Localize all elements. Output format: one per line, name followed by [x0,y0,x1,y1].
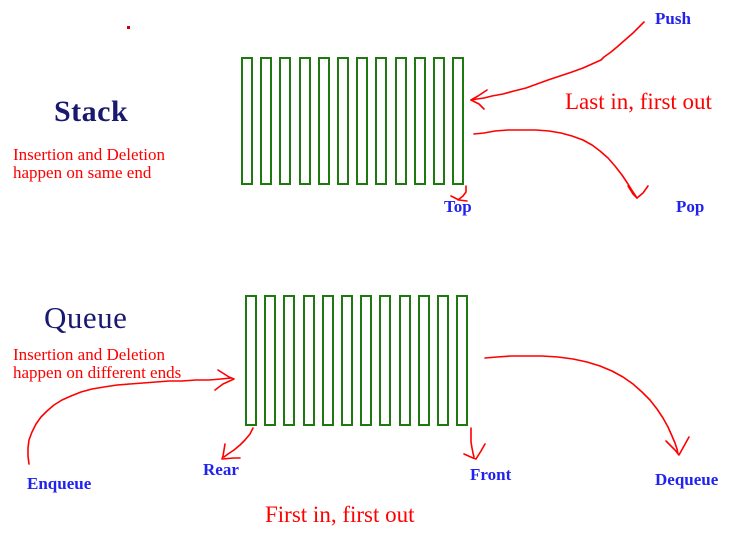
enqueue-arrow-line [28,378,231,464]
bar-element [245,295,257,426]
diagram-canvas: Stack Insertion and Deletion happen on s… [0,0,755,534]
bar-element [395,57,407,185]
bar-element [418,295,430,426]
queue-note-line-2: happen on different ends [13,363,181,382]
bar-element [399,295,411,426]
bar-element [437,295,449,426]
stack-phrase: Last in, first out [565,89,712,115]
bar-element [337,57,349,185]
push-label: Push [655,9,691,28]
speck-artifact [127,26,130,29]
dequeue-arrowhead [666,437,689,455]
bar-element [414,57,426,185]
bar-element [279,57,291,185]
bar-element [456,295,468,426]
top-label: Top [444,197,472,216]
bar-element [318,57,330,185]
bar-element [360,295,372,426]
queue-phrase: First in, first out [265,502,415,528]
rear-pointer-line [224,428,253,457]
front-pointer-line [471,428,474,457]
enqueue-label: Enqueue [27,474,91,493]
bar-element [299,57,311,185]
stack-heading: Stack [54,95,128,129]
pop-arrow-line [474,130,637,198]
dequeue-arrow-line [485,356,678,454]
bar-element [341,295,353,426]
bar-element [379,295,391,426]
front-label: Front [470,465,511,484]
rear-label: Rear [203,460,239,479]
bar-element [356,57,368,185]
bar-element [264,295,276,426]
pop-label: Pop [676,197,704,216]
bar-element [322,295,334,426]
queue-note-line-1: Insertion and Deletion [13,345,165,364]
stack-note-line-1: Insertion and Deletion [13,145,165,164]
bar-element [283,295,295,426]
stack-note-line-2: happen on same end [13,163,151,182]
queue-heading: Queue [44,301,127,336]
bar-element [452,57,464,185]
bar-element [260,57,272,185]
dequeue-label: Dequeue [655,470,718,489]
bar-element [375,57,387,185]
bar-element [433,57,445,185]
bar-element [303,295,315,426]
bar-element [241,57,253,185]
